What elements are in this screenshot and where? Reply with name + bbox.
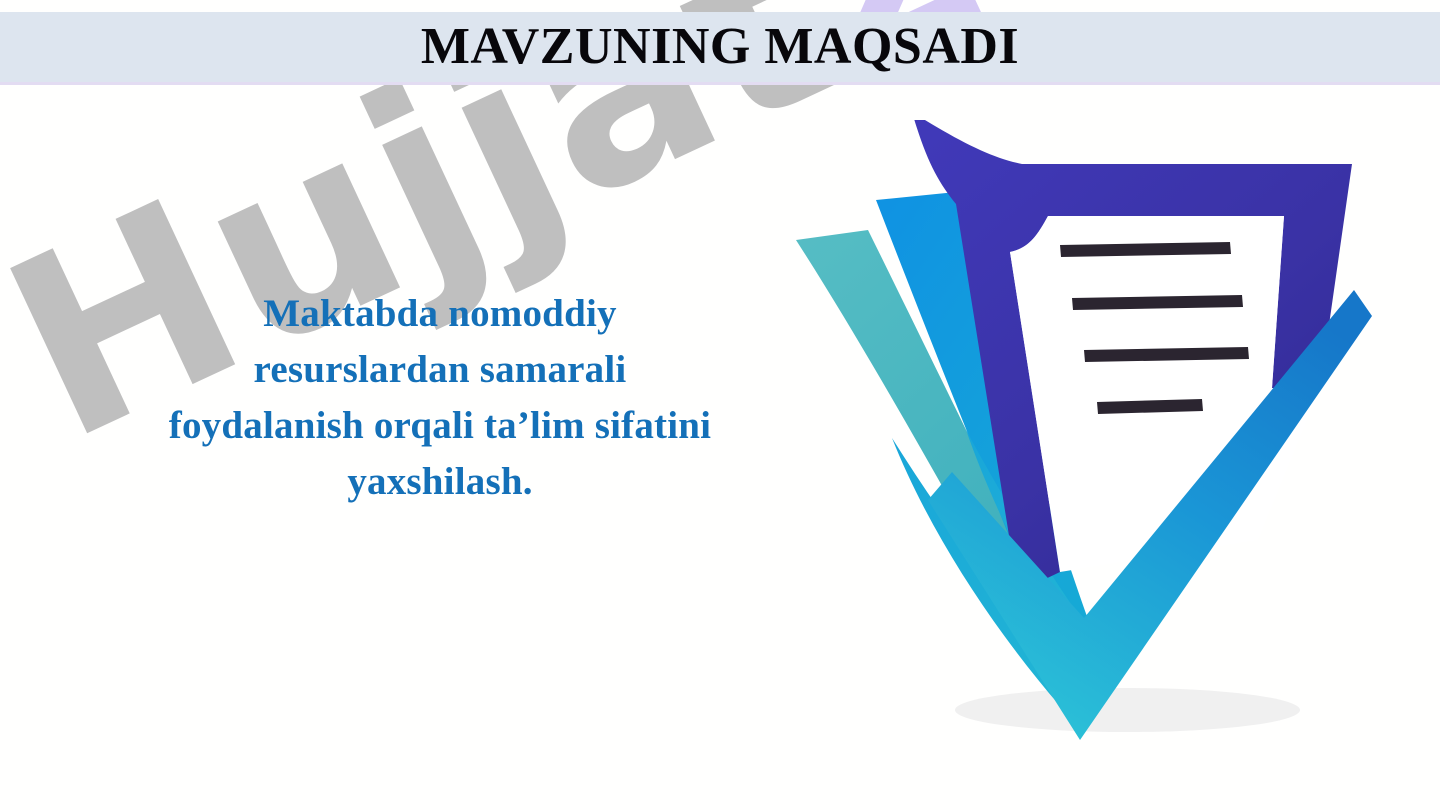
page-title: MAVZUNING MAQSADI bbox=[421, 21, 1019, 73]
body-line-2: resurslardan samarali bbox=[60, 342, 820, 398]
body-line-4: yaxshilash. bbox=[60, 454, 820, 510]
title-band: MAVZUNING MAQSADI bbox=[0, 12, 1440, 85]
body-line-3: foydalanish orqali ta’lim sifatini bbox=[60, 398, 820, 454]
body-line-1: Maktabda nomoddiy bbox=[60, 286, 820, 342]
slide-canvas: Hujjat24 bbox=[0, 0, 1440, 810]
slide-body-text: Maktabda nomoddiy resurslardan samarali … bbox=[60, 286, 820, 510]
document-check-illustration bbox=[760, 120, 1380, 740]
